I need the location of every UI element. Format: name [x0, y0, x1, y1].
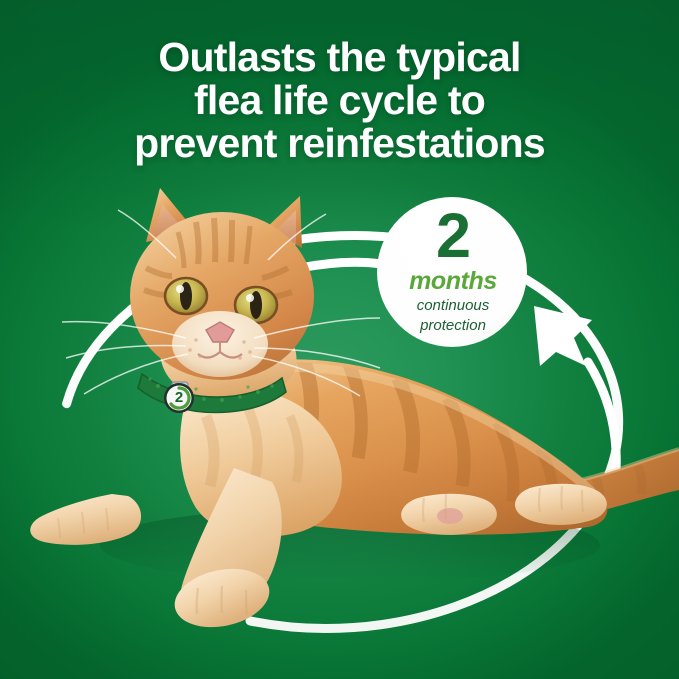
headline: Outlasts the typical flea life cycle to … — [0, 36, 679, 165]
headline-line-2: flea life cycle to — [0, 79, 679, 122]
advertisement-canvas: Outlasts the typical flea life cycle to … — [0, 0, 679, 679]
headline-line-3: prevent reinfestations — [0, 122, 679, 165]
badge-circle — [377, 197, 527, 347]
headline-line-1: Outlasts the typical — [0, 36, 679, 79]
